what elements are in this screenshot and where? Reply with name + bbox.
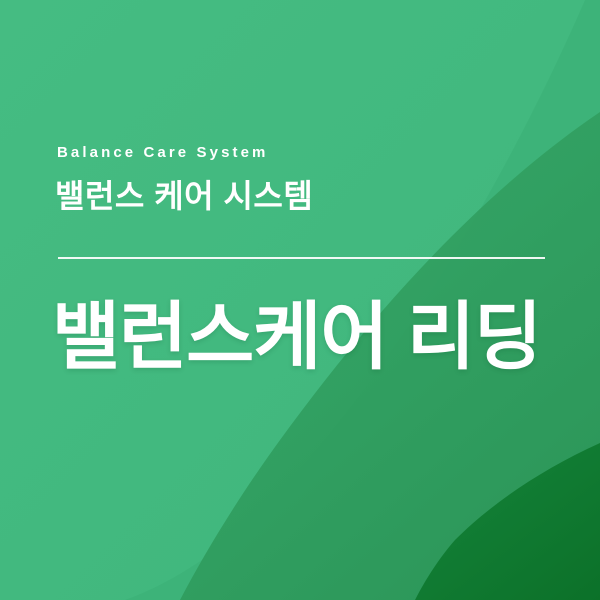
eyebrow-text: Balance Care System [57, 145, 269, 160]
banner-content: Balance Care System 밸런스 케어 시스템 밸런스케어 리딩 [0, 0, 600, 600]
divider-rule [58, 257, 545, 259]
headline-text: 밸런스케어 리딩 [52, 296, 541, 377]
subtitle-text: 밸런스 케어 시스템 [55, 176, 313, 216]
promo-banner: Balance Care System 밸런스 케어 시스템 밸런스케어 리딩 [0, 0, 600, 600]
